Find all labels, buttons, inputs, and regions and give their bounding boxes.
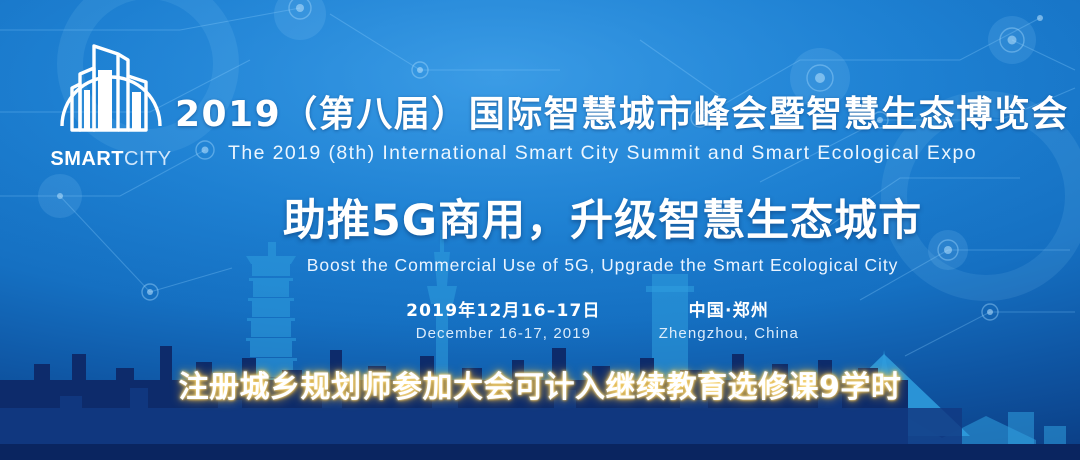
event-location: 中国·郑州 Zhengzhou, China — [659, 296, 799, 342]
logo-word-city: CITY — [124, 148, 172, 170]
smart-city-logo: SMARTCITY — [36, 30, 186, 180]
logo-word-smart: SMART — [50, 148, 124, 170]
event-meta-row: 2019年12月16–17日 December 16-17, 2019 中国·郑… — [175, 296, 1030, 342]
event-title-en: The 2019 (8th) International Smart City … — [175, 142, 1030, 165]
event-date-cn: 2019年12月16–17日 — [406, 296, 601, 321]
event-title-cn: 2019（第八届）国际智慧城市峰会暨智慧生态博览会 — [175, 96, 1030, 135]
credit-note-text: 注册城乡规划师参加大会可计入继续教育选修课9学时 — [179, 362, 902, 406]
event-date: 2019年12月16–17日 December 16-17, 2019 — [406, 296, 601, 342]
event-location-en: Zhengzhou, China — [659, 325, 799, 342]
event-title-block: 2019（第八届）国际智慧城市峰会暨智慧生态博览会 The 2019 (8th)… — [175, 96, 1030, 165]
event-slogan-block: 助推5G商用，升级智慧生态城市 Boost the Commercial Use… — [175, 198, 1030, 276]
credit-note-block: 注册城乡规划师参加大会可计入继续教育选修课9学时 — [0, 362, 1080, 406]
conference-banner: SMARTCITY 2019（第八届）国际智慧城市峰会暨智慧生态博览会 The … — [0, 0, 1080, 460]
smart-city-building-logo-icon — [36, 30, 186, 150]
skyline-base-band — [0, 444, 1080, 460]
event-location-cn: 中国·郑州 — [659, 296, 799, 321]
left-building-cluster — [96, 402, 1066, 460]
logo-wordmark: SMARTCITY — [36, 148, 186, 171]
event-date-en: December 16-17, 2019 — [406, 325, 601, 342]
event-slogan-cn: 助推5G商用，升级智慧生态城市 — [175, 198, 1030, 245]
event-slogan-en: Boost the Commercial Use of 5G, Upgrade … — [175, 255, 1030, 276]
